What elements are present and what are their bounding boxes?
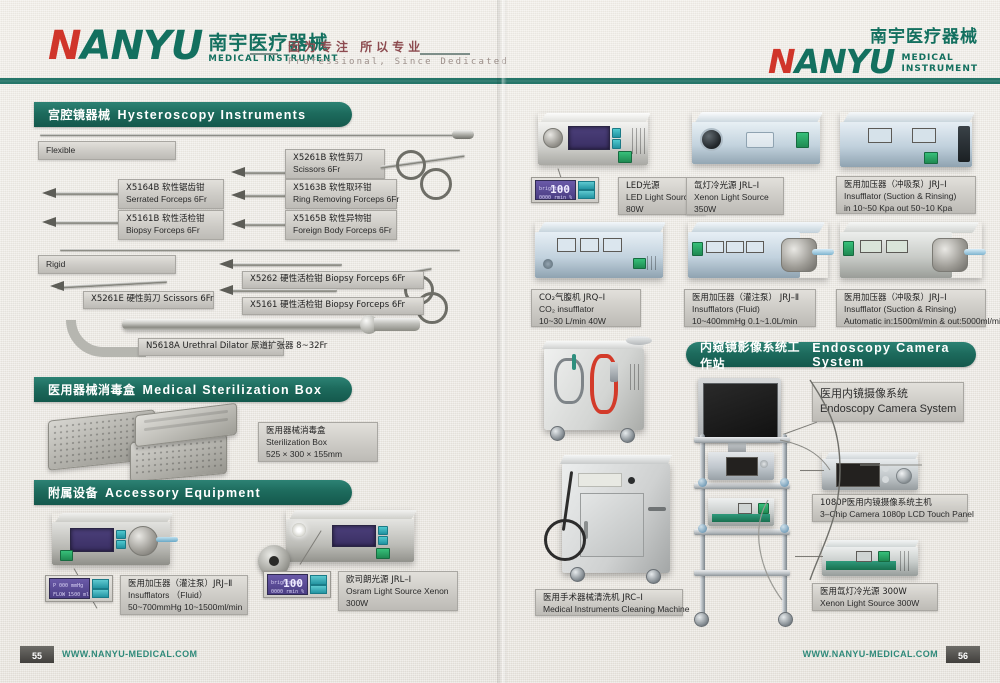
device-xenon-300w-body bbox=[822, 547, 918, 576]
section-header-hysteroscopy-cn: 宫腔镜器械 bbox=[48, 106, 111, 123]
cart-device-camera-unit-knob[interactable] bbox=[760, 460, 768, 468]
lcd-down-button-insufflator-fluid[interactable] bbox=[92, 589, 109, 599]
device-insufflator-fluid-right-display2 bbox=[726, 241, 744, 253]
lcd-closeup-osram: brightness 100 0000 rmin % bbox=[263, 571, 331, 598]
device-insufflator-fluid bbox=[52, 513, 170, 565]
caption-3chip-camera-cn: 1080P医用内镜摄像系统主机 bbox=[820, 498, 960, 509]
caption-insufflator-suction-2-en: Insufflator (Suction & Rinsing) bbox=[844, 304, 978, 315]
lcd-buttons-insufflator-fluid[interactable] bbox=[92, 579, 109, 598]
device-xenon-300w-power-button[interactable] bbox=[878, 551, 890, 562]
leader-line-xenon-300w bbox=[795, 556, 823, 557]
cleaning-machine-top-vents bbox=[630, 364, 640, 390]
caption-insufflator-fluid-right-en: Insufflators (Fluid) bbox=[692, 304, 808, 315]
footer-page-number-right-text: 56 bbox=[958, 651, 968, 661]
device-insufflator-fluid-btn1 bbox=[116, 530, 126, 539]
caption-xenon-light-source: 氙灯冷光源 JRL–Ⅰ Xenon Light Source 350W bbox=[686, 177, 784, 215]
device-osram-btn2 bbox=[378, 536, 388, 545]
device-3chip-camera-connector bbox=[896, 468, 912, 484]
group-label-flexible: Flexible bbox=[38, 141, 176, 160]
section-header-accessory-cn: 附属设备 bbox=[48, 484, 98, 501]
lcd-closeup-led: brightness 100 0000 rmin % bbox=[531, 177, 599, 203]
lcd-up-button-insufflator-fluid[interactable] bbox=[92, 579, 109, 589]
device-3chip-camera-btn2[interactable] bbox=[882, 476, 889, 483]
lcd-up-button-osram[interactable] bbox=[310, 575, 327, 585]
device-3chip-camera-touch-panel[interactable] bbox=[836, 463, 880, 487]
device-insufflator-fluid-right bbox=[688, 222, 828, 278]
caption-camera-system-cn: 医用内镜摄像系统 bbox=[820, 387, 956, 402]
caption-serrated-forceps-cn: X5164B 软性锯齿钳 bbox=[126, 183, 216, 194]
camera-system-monitor bbox=[698, 378, 781, 442]
dilator-curve bbox=[66, 320, 146, 357]
caption-foreign-body-forceps-en: Foreign Body Forceps 6Fr bbox=[293, 225, 389, 236]
instrument-rigid-biopsy-1-jaw bbox=[219, 259, 233, 269]
instrument-ring-handle-loop2 bbox=[420, 168, 452, 200]
caption-rigid-scissors-text: X5261E 硬性剪刀 Scissors 6Fr bbox=[91, 294, 214, 305]
brand-wordmark-rest: ANYU bbox=[80, 23, 202, 69]
caption-insufflator-suction-2-spec: Automatic in:1500ml/min & out:5000ml/min bbox=[844, 316, 978, 327]
caption-rigid-biopsy-2-text: X5161 硬性活检钳 Biopsy Forceps 6Fr bbox=[250, 300, 405, 311]
cleaning-machine-tray bbox=[626, 336, 652, 345]
caption-insufflator-fluid-en: Insufflators （Fluid） bbox=[128, 590, 240, 601]
caption-insufflator-fluid: 医用加压器（灌注泵）JRJ–Ⅱ Insufflators （Fluid） 50~… bbox=[120, 575, 248, 615]
caption-xenon-en: Xenon Light Source bbox=[694, 192, 776, 203]
device-insufflator-suction-1-body bbox=[840, 122, 972, 167]
header-divider-dash-right bbox=[420, 53, 470, 55]
caption-insufflator-fluid-right-spec: 10~400mmHg 0.1~1.0L/min bbox=[692, 316, 808, 327]
caption-xenon-300w-en: Xenon Light Source 300W bbox=[820, 598, 930, 609]
caption-scissors: X5261B 软性剪刀 Scissors 6Fr bbox=[285, 149, 385, 179]
caption-co2-en: CO₂ insufflator bbox=[539, 304, 633, 315]
caption-ring-forceps-en: Ring Removing Forceps 6Fr bbox=[293, 194, 389, 205]
caption-co2-cn: CO₂气腹机 JRQ–Ⅰ bbox=[539, 293, 633, 304]
device-led-power-button[interactable] bbox=[618, 151, 632, 163]
footer-url-right[interactable]: WWW.NANYU-MEDICAL.COM bbox=[803, 646, 938, 663]
footer-url-left[interactable]: WWW.NANYU-MEDICAL.COM bbox=[62, 646, 197, 663]
caption-osram-spec: 300W bbox=[346, 598, 450, 609]
instrument-scissors-jaw bbox=[231, 167, 245, 177]
footer-page-number-left-text: 55 bbox=[32, 651, 42, 661]
slogan-english: Professional, Since Dedicated bbox=[288, 57, 509, 67]
device-co2-power-button[interactable] bbox=[633, 258, 646, 269]
device-led-light-source bbox=[538, 113, 648, 165]
leader-line-3chip-camera bbox=[800, 470, 824, 471]
lcd-closeup-insufflator-fluid: P 000 mmHg FLOW 1500 ml/min bbox=[45, 575, 113, 602]
lcd-led-sub: 0000 rmin % bbox=[539, 195, 572, 200]
cleaning-machine-indicator bbox=[628, 477, 635, 484]
caption-3chip-camera: 1080P医用内镜摄像系统主机 3–Chip Camera 1080p LCD … bbox=[812, 494, 968, 522]
instrument-rigid-scope-shaft bbox=[60, 249, 460, 251]
device-insufflator-fluid-tubing bbox=[156, 537, 178, 542]
caption-serrated-forceps-en: Serrated Forceps 6Fr bbox=[126, 194, 216, 205]
cart-device-light-unit-body bbox=[708, 498, 774, 526]
device-co2-body bbox=[535, 232, 663, 278]
device-insufflator-fluid-right-pump-head bbox=[781, 238, 817, 272]
cart-joint-left-3 bbox=[698, 524, 707, 533]
cleaning-machine-green-handle bbox=[572, 354, 576, 370]
cart-device-light-unit bbox=[708, 498, 774, 526]
caption-xenon-300w: 医用氙灯冷光源 300W Xenon Light Source 300W bbox=[812, 583, 938, 611]
dilator-shaft bbox=[122, 319, 372, 330]
cart-caster-right bbox=[778, 612, 793, 627]
device-xenon-300w bbox=[822, 540, 918, 576]
cleaning-machine-side-valve bbox=[648, 507, 666, 511]
device-xenon-power-button[interactable] bbox=[796, 132, 809, 148]
brand-wordmark-rest-right: ANYU bbox=[795, 42, 895, 81]
header-divider-dash-left bbox=[250, 53, 278, 55]
caption-biopsy-forceps-flexible-en: Biopsy Forceps 6Fr bbox=[126, 225, 216, 236]
device-xenon-body bbox=[692, 122, 820, 164]
group-label-rigid: Rigid bbox=[38, 255, 176, 274]
page-gutter bbox=[497, 0, 507, 683]
device-insufflator-fluid-right-display1 bbox=[706, 241, 724, 253]
device-osram-light-port bbox=[292, 523, 306, 537]
cart-shelf-1 bbox=[694, 437, 790, 443]
group-label-flexible-text: Flexible bbox=[46, 145, 75, 156]
caption-scissors-en: Scissors 6Fr bbox=[293, 164, 377, 175]
section-header-camera: 内窥镜影像系统工作站 Endoscopy Camera System bbox=[686, 342, 976, 367]
device-insufflator-suction-2 bbox=[840, 222, 982, 278]
caption-scissors-cn: X5261B 软性剪刀 bbox=[293, 153, 377, 164]
device-insufflator-suction-2-pump-head bbox=[932, 238, 968, 272]
caption-biopsy-forceps-flexible: X5161B 软性活检钳 Biopsy Forceps 6Fr bbox=[118, 210, 224, 240]
caption-ring-forceps: X5163B 软性取环钳 Ring Removing Forceps 6Fr bbox=[285, 179, 397, 209]
caption-insufflator-fluid-right: 医用加压器（灌注泵） JRJ–Ⅱ Insufflators (Fluid) 10… bbox=[684, 289, 816, 327]
device-led-screen bbox=[568, 126, 610, 150]
cart-shelf-2 bbox=[694, 483, 790, 489]
caption-rigid-biopsy-1: X5262 硬性活检钳 Biopsy Forceps 6Fr bbox=[242, 271, 424, 289]
instrument-rigid-biopsy-2-jaw bbox=[219, 285, 233, 295]
cleaning-machine-top-caster-2 bbox=[620, 428, 635, 443]
device-insufflator-fluid-screen bbox=[70, 528, 114, 552]
device-osram-btn1 bbox=[378, 526, 388, 535]
cart-device-camera-unit-screen bbox=[726, 457, 758, 476]
brand-english-right: MEDICAL INSTRUMENT bbox=[901, 53, 978, 79]
device-insufflator-fluid-pump-head bbox=[128, 526, 158, 556]
caption-osram-cn: 欧司朗光源 JRL–Ⅰ bbox=[346, 575, 450, 586]
device-insufflator-suction-1 bbox=[840, 112, 972, 167]
footer-page-number-right: 56 bbox=[946, 646, 980, 663]
device-insufflator-suction-1-power-button[interactable] bbox=[924, 152, 938, 164]
caption-sterilization-box-size: 525 × 300 × 155mm bbox=[266, 449, 370, 460]
device-insufflator-fluid-right-power-button[interactable] bbox=[692, 242, 703, 256]
caption-xenon-spec: 350W bbox=[694, 204, 776, 215]
cart-device-camera-unit-body bbox=[708, 452, 774, 480]
section-header-sterilization-en: Medical Sterilization Box bbox=[143, 383, 323, 397]
cart-device-light-unit-display bbox=[738, 503, 752, 514]
caption-xenon-cn: 氙灯冷光源 JRL–Ⅰ bbox=[694, 181, 776, 192]
instrument-flexible-scope-shaft bbox=[40, 134, 460, 136]
cleaning-machine-door[interactable] bbox=[580, 493, 644, 557]
caption-insufflator-suction-2-cn: 医用加压器（冲吸泵）JRJ–Ⅰ bbox=[844, 293, 978, 304]
caption-rigid-scissors: X5261E 硬性剪刀 Scissors 6Fr bbox=[83, 291, 214, 309]
caption-sterilization-box-en: Sterilization Box bbox=[266, 437, 370, 448]
catalog-page: NANYU 南宇医疗器械 MEDICAL INSTRUMENT 因为专注 所以专… bbox=[0, 0, 1000, 683]
device-led-btn1 bbox=[612, 128, 621, 138]
device-insufflator-suction-1-display2 bbox=[912, 128, 936, 143]
lcd-buttons-osram[interactable] bbox=[310, 575, 327, 594]
brand-english-right-line2: INSTRUMENT bbox=[901, 64, 978, 75]
lcd-up-button-led[interactable] bbox=[578, 181, 595, 190]
lcd-osram-sub: 0000 rmin % bbox=[271, 589, 304, 595]
caption-serrated-forceps: X5164B 软性锯齿钳 Serrated Forceps 6Fr bbox=[118, 179, 224, 209]
device-xenon-light-port bbox=[700, 128, 723, 151]
device-led-vents bbox=[632, 128, 646, 154]
caption-3chip-camera-en: 3–Chip Camera 1080p LCD Touch Panel bbox=[820, 509, 960, 520]
brand-wordmark-initial: N bbox=[48, 23, 80, 69]
caption-insufflator-suction-2: 医用加压器（冲吸泵）JRJ–Ⅰ Insufflator (Suction & R… bbox=[836, 289, 986, 327]
device-insufflator-fluid-btn2 bbox=[116, 540, 126, 549]
caption-cleaning-machine-cn: 医用手术器械清洗机 JRC–Ⅰ bbox=[543, 593, 675, 604]
caption-foreign-body-forceps: X5165B 软性异物钳 Foreign Body Forceps 6Fr bbox=[285, 210, 397, 240]
device-xenon-300w-vents bbox=[900, 551, 912, 571]
device-co2-display1 bbox=[557, 238, 576, 252]
instrument-foreign-body-forceps-jaw bbox=[231, 219, 245, 229]
section-header-sterilization-cn: 医用器械消毒盒 bbox=[48, 381, 136, 398]
device-insufflator-suction-2-display1 bbox=[860, 240, 882, 253]
slogan-block: 因为专注 所以专业 Professional, Since Dedicated bbox=[288, 38, 509, 67]
instrument-serrated-forceps-jaw bbox=[42, 188, 56, 198]
device-co2-gas-port bbox=[543, 259, 553, 269]
brand-english-right-line1: MEDICAL bbox=[901, 53, 978, 64]
cart-shelf-3 bbox=[694, 529, 790, 535]
instrument-rigid-scissors-shaft bbox=[57, 280, 167, 289]
device-xenon-control-panel bbox=[746, 132, 774, 148]
device-osram-lamp-center bbox=[269, 556, 279, 566]
caption-insufflator-fluid-cn: 医用加压器（灌注泵）JRJ–Ⅱ bbox=[128, 579, 240, 590]
caption-sterilization-box-cn: 医用器械消毒盒 bbox=[266, 426, 370, 437]
caption-sterilization-box: 医用器械消毒盒 Sterilization Box 525 × 300 × 15… bbox=[258, 422, 378, 462]
section-header-camera-cn: 内窥镜影像系统工作站 bbox=[700, 338, 805, 372]
lcd-insufflator-fluid-sub: FLOW 1500 ml/min bbox=[53, 592, 90, 598]
lcd-screen-insufflator-fluid: P 000 mmHg FLOW 1500 ml/min bbox=[49, 578, 90, 599]
caption-camera-system-title: 医用内镜摄像系统 Endoscopy Camera System bbox=[812, 382, 964, 422]
caption-xenon-300w-cn: 医用氙灯冷光源 300W bbox=[820, 587, 930, 598]
leader-line-camera-system bbox=[783, 422, 817, 435]
device-3chip-camera-body bbox=[822, 459, 918, 490]
device-insufflator-fluid-right-tubing bbox=[812, 249, 834, 255]
instrument-biopsy-forceps-jaw bbox=[42, 217, 56, 227]
lcd-screen-osram: brightness 100 0000 rmin % bbox=[267, 574, 308, 595]
lcd-down-button-led[interactable] bbox=[578, 190, 595, 199]
lcd-insufflator-fluid-label: P 000 mmHg bbox=[53, 583, 83, 589]
device-xenon-light-source bbox=[692, 112, 820, 164]
instrument-rigid-biopsy-2-shaft bbox=[227, 289, 337, 292]
instrument-ring-forceps-jaw bbox=[231, 190, 245, 200]
cleaning-machine-bottom-caster-2 bbox=[646, 569, 661, 584]
caption-co2-insufflator: CO₂气腹机 JRQ–Ⅰ CO₂ insufflator 10~30 L/min… bbox=[531, 289, 641, 327]
device-insufflator-suction-1-port-panel bbox=[958, 126, 970, 162]
lcd-buttons-led[interactable] bbox=[578, 181, 595, 199]
brand-wordmark-row-right: NANYU MEDICAL INSTRUMENT bbox=[768, 45, 978, 78]
caption-osram-en: Osram Light Source Xenon bbox=[346, 586, 450, 597]
slogan-chinese: 因为专注 所以专业 bbox=[288, 38, 509, 55]
device-insufflator-suction-2-display2 bbox=[886, 240, 908, 253]
camera-system-monitor-screen bbox=[703, 383, 778, 439]
section-header-camera-en: Endoscopy Camera System bbox=[812, 341, 976, 369]
caption-cleaning-machine-en: Medical Instruments Cleaning Machine bbox=[543, 604, 675, 615]
device-insufflator-fluid-power-button[interactable] bbox=[60, 550, 73, 561]
device-co2-vents bbox=[647, 256, 659, 270]
device-xenon-300w-display bbox=[856, 551, 872, 562]
caption-insufflator-fluid-spec: 50~700mmHg 10~1500ml/min bbox=[128, 602, 240, 613]
caption-foreign-body-forceps-cn: X5165B 软性异物钳 bbox=[293, 214, 389, 225]
section-header-sterilization: 医用器械消毒盒 Medical Sterilization Box bbox=[34, 377, 352, 402]
device-led-knob[interactable] bbox=[543, 128, 563, 148]
caption-camera-system-en: Endoscopy Camera System bbox=[820, 402, 956, 417]
device-co2-display3 bbox=[603, 238, 622, 252]
device-co2-insufflator bbox=[535, 222, 663, 278]
brand-wordmark-left: NANYU bbox=[48, 26, 202, 66]
brand-logo-right: 南宇医疗器械 NANYU MEDICAL INSTRUMENT bbox=[768, 22, 978, 78]
caption-osram: 欧司朗光源 JRL–Ⅰ Osram Light Source Xenon 300… bbox=[338, 571, 458, 611]
lcd-screen-led: brightness 100 0000 rmin % bbox=[535, 180, 576, 200]
dilator-handle bbox=[374, 318, 420, 331]
cart-device-light-unit-power-button[interactable] bbox=[758, 503, 769, 514]
cart-device-light-unit-green-stripe bbox=[712, 514, 770, 522]
cleaning-machine-bottom-caster-1 bbox=[570, 567, 585, 582]
device-3chip-camera bbox=[822, 452, 918, 490]
footer-page-number-left: 55 bbox=[20, 646, 54, 663]
device-xenon-300w-green-stripe bbox=[826, 561, 896, 570]
caption-urethral-dilator-text: N5618A Urethral Dilator 尿道扩张器 8~32Fr bbox=[146, 341, 327, 352]
cart-caster-left bbox=[694, 612, 709, 627]
device-insufflator-suction-1-display1 bbox=[868, 128, 892, 143]
caption-rigid-biopsy-1-text: X5262 硬性活检钳 Biopsy Forceps 6Fr bbox=[250, 274, 405, 285]
device-led-body bbox=[538, 122, 648, 165]
brand-wordmark-initial-right: N bbox=[768, 42, 795, 81]
caption-insufflator-fluid-right-cn: 医用加压器（灌注泵） JRJ–Ⅱ bbox=[692, 293, 808, 304]
caption-insufflator-suction-1-spec: in 10~50 Kpa out 50~10 Kpa bbox=[844, 203, 968, 214]
instrument-flexible-scope-tip bbox=[452, 130, 474, 139]
device-3chip-camera-btn1[interactable] bbox=[882, 465, 889, 472]
brand-wordmark-right: NANYU bbox=[768, 45, 894, 78]
device-osram-screen bbox=[332, 525, 376, 547]
device-insufflator-fluid-body bbox=[52, 522, 170, 565]
cart-joint-left-2 bbox=[698, 478, 707, 487]
caption-insufflator-suction-1: 医用加压器（冲吸泵）JRJ–Ⅰ Insufflator (Suction & R… bbox=[836, 176, 976, 214]
device-co2-display2 bbox=[580, 238, 599, 252]
device-insufflator-fluid-right-display3 bbox=[746, 241, 764, 253]
cleaning-machine-top-caster-1 bbox=[550, 426, 565, 441]
instrument-rigid-scissors-jaw bbox=[50, 281, 64, 291]
device-led-btn2 bbox=[612, 139, 621, 149]
group-label-rigid-text: Rigid bbox=[46, 259, 65, 270]
device-insufflator-suction-2-tubing bbox=[964, 249, 986, 255]
caption-ring-forceps-cn: X5163B 软性取环钳 bbox=[293, 183, 389, 194]
section-header-accessory: 附属设备 Accessory Equipment bbox=[34, 480, 352, 505]
caption-insufflator-suction-1-cn: 医用加压器（冲吸泵）JRJ–Ⅰ bbox=[844, 180, 968, 191]
caption-urethral-dilator: N5618A Urethral Dilator 尿道扩张器 8~32Fr bbox=[138, 338, 284, 356]
cleaning-machine-label-plate bbox=[578, 473, 622, 487]
cart-joint-right-3 bbox=[780, 524, 789, 533]
lcd-down-button-osram[interactable] bbox=[310, 585, 327, 595]
cart-shelf-4 bbox=[694, 570, 790, 576]
device-insufflator-suction-2-power-button[interactable] bbox=[843, 241, 854, 256]
cart-joint-right-2 bbox=[780, 478, 789, 487]
cleaning-machine-spray-gun bbox=[610, 362, 618, 382]
device-cleaning-machine-bottom bbox=[562, 463, 670, 573]
caption-biopsy-forceps-flexible-cn: X5161B 软性活检钳 bbox=[126, 214, 216, 225]
cart-device-camera-unit bbox=[708, 452, 774, 480]
instrument-rigid-biopsy-1-shaft bbox=[227, 263, 342, 266]
caption-cleaning-machine: 医用手术器械清洗机 JRC–Ⅰ Medical Instruments Clea… bbox=[535, 589, 683, 616]
section-header-hysteroscopy: 宫腔镜器械 Hysteroscopy Instruments bbox=[34, 102, 352, 127]
section-header-accessory-en: Accessory Equipment bbox=[105, 486, 261, 500]
caption-co2-spec: 10~30 L/min 40W bbox=[539, 316, 633, 327]
device-osram-power-button[interactable] bbox=[376, 548, 390, 559]
cleaning-machine-bottom-top-surface bbox=[560, 455, 672, 464]
caption-insufflator-suction-1-en: Insufflator (Suction & Rinsing) bbox=[844, 191, 968, 202]
cleaning-machine-gray-coil bbox=[554, 358, 584, 404]
device-cleaning-machine-top bbox=[544, 348, 644, 430]
section-header-hysteroscopy-en: Hysteroscopy Instruments bbox=[118, 108, 307, 122]
